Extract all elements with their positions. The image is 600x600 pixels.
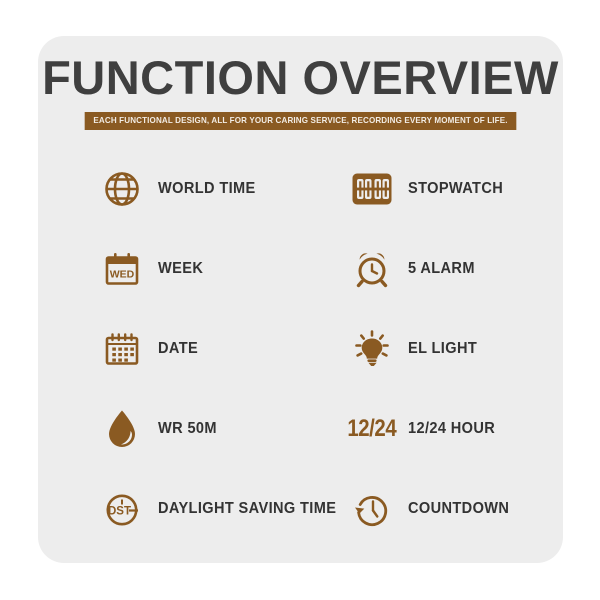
feature-item-world-time[interactable]: WORLD TIME <box>100 149 350 229</box>
calendar-weekday-icon: WED <box>100 247 144 291</box>
feature-item-12-24-hour[interactable]: 12/24 12/24 HOUR <box>350 389 600 469</box>
calendar-grid-icon <box>100 327 144 371</box>
feature-label: WORLD TIME <box>158 180 256 198</box>
feature-item-daylight-saving-time[interactable]: DST DAYLIGHT SAVING TIME <box>100 469 350 549</box>
subtitle-banner: EACH FUNCTIONAL DESIGN, ALL FOR YOUR CAR… <box>38 112 563 130</box>
stopwatch-digital-icon <box>350 167 394 211</box>
calendar-weekday-text: WED <box>110 269 135 281</box>
feature-label: COUNTDOWN <box>408 500 509 518</box>
feature-item-countdown[interactable]: COUNTDOWN <box>350 469 600 549</box>
feature-grid: WORLD TIME <box>38 149 563 549</box>
page-root: FUNCTION OVERVIEW EACH FUNCTIONAL DESIGN… <box>0 0 600 600</box>
feature-item-date[interactable]: DATE <box>100 309 350 389</box>
dst-text: DST <box>108 506 131 518</box>
water-drop-icon <box>100 407 144 451</box>
feature-item-stopwatch[interactable]: STOPWATCH <box>350 149 600 229</box>
dst-circle-icon: DST <box>100 487 144 531</box>
feature-label: WEEK <box>158 260 203 278</box>
card-header: FUNCTION OVERVIEW EACH FUNCTIONAL DESIGN… <box>38 52 563 130</box>
alarm-clock-icon <box>350 247 394 291</box>
feature-label: EL LIGHT <box>408 340 477 358</box>
feature-item-water-resistance[interactable]: WR 50M <box>100 389 350 469</box>
lightbulb-icon <box>350 327 394 371</box>
feature-label: WR 50M <box>158 420 217 438</box>
feature-label: STOPWATCH <box>408 180 503 198</box>
twelve-twentyfour-text: 12/24 <box>348 415 397 443</box>
feature-item-week[interactable]: WED WEEK <box>100 229 350 309</box>
function-overview-card: FUNCTION OVERVIEW EACH FUNCTIONAL DESIGN… <box>38 36 563 563</box>
feature-label: 12/24 HOUR <box>408 420 495 438</box>
subtitle-text: EACH FUNCTIONAL DESIGN, ALL FOR YOUR CAR… <box>85 112 517 130</box>
countdown-clock-icon <box>350 487 394 531</box>
feature-label: 5 ALARM <box>408 260 475 278</box>
feature-item-el-light[interactable]: EL LIGHT <box>350 309 600 389</box>
twelve-twentyfour-text-icon: 12/24 <box>350 407 394 451</box>
globe-icon <box>100 167 144 211</box>
feature-label: DAYLIGHT SAVING TIME <box>158 500 336 518</box>
feature-label: DATE <box>158 340 198 358</box>
page-title: FUNCTION OVERVIEW <box>38 52 563 104</box>
feature-item-alarm[interactable]: 5 ALARM <box>350 229 600 309</box>
